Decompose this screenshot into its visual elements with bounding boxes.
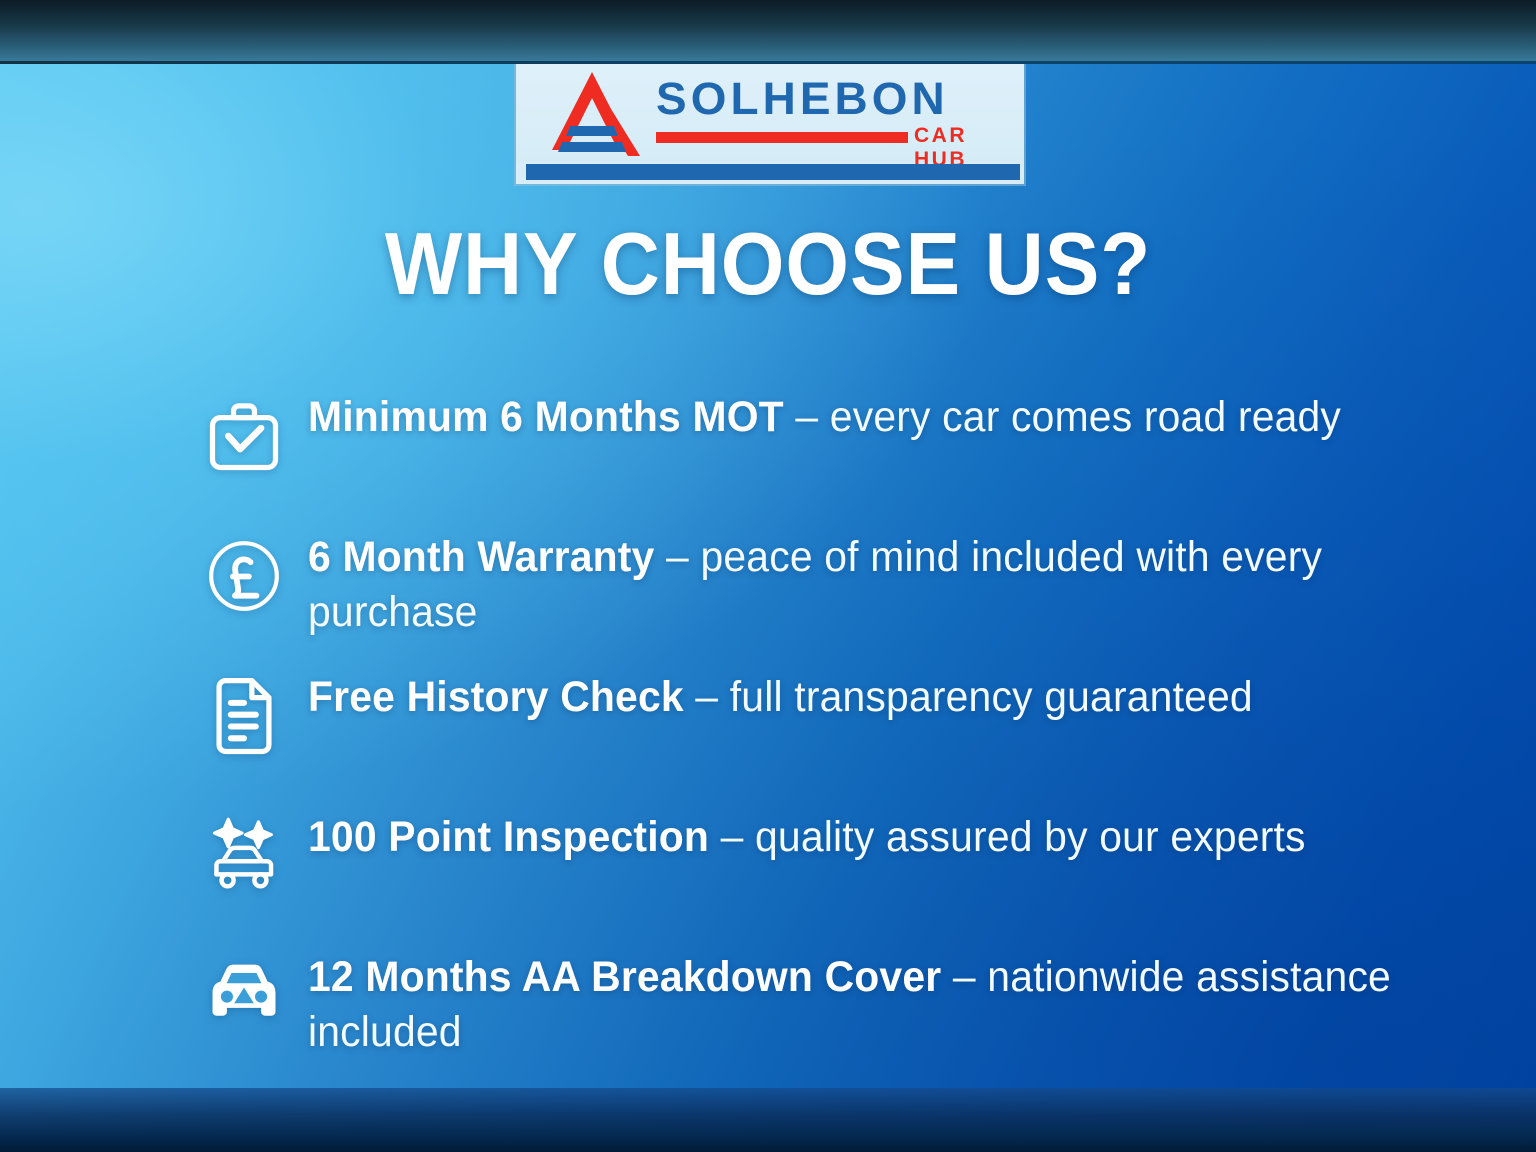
letterbox-bar-top	[0, 0, 1536, 64]
car-front-icon	[180, 934, 308, 1052]
sparkle-car-icon	[180, 794, 308, 912]
feature-title: 6 Month Warranty	[308, 533, 654, 581]
feature-list: Minimum 6 Months MOT – every car comes r…	[180, 374, 1480, 1074]
list-item: Minimum 6 Months MOT – every car comes r…	[180, 374, 1480, 514]
feature-text: 12 Months AA Breakdown Cover – nationwid…	[308, 934, 1421, 1060]
feature-text: 6 Month Warranty – peace of mind include…	[308, 514, 1421, 640]
feature-title: 12 Months AA Breakdown Cover	[308, 953, 941, 1001]
feature-description: – full transparency guaranteed	[684, 673, 1253, 721]
feature-description: – every car comes road ready	[784, 393, 1341, 441]
logo-plate: SOLHEBON CAR HUB	[516, 64, 1024, 162]
document-lines-icon	[180, 654, 308, 772]
logo-blue-footer-bar	[526, 164, 1020, 180]
promo-graphic: SOLHEBON CAR HUB WHY CHOOSE US? Minimum …	[0, 0, 1536, 1152]
list-item: 6 Month Warranty – peace of mind include…	[180, 514, 1480, 654]
logo-wordmark: SOLHEBON CAR HUB	[656, 74, 1008, 158]
brand-logo[interactable]: SOLHEBON CAR HUB	[516, 64, 1024, 184]
pound-coin-icon	[180, 514, 308, 632]
feature-text: Free History Check – full transparency g…	[308, 654, 1421, 725]
list-item: Free History Check – full transparency g…	[180, 654, 1480, 794]
logo-brand-name: SOLHEBON	[656, 76, 949, 121]
briefcase-check-icon	[180, 374, 308, 492]
page-title: WHY CHOOSE US?	[54, 220, 1482, 308]
list-item: 100 Point Inspection – quality assured b…	[180, 794, 1480, 934]
logo-red-rule	[656, 132, 908, 143]
feature-title: Free History Check	[308, 673, 684, 721]
feature-text: 100 Point Inspection – quality assured b…	[308, 794, 1421, 865]
feature-title: 100 Point Inspection	[308, 813, 709, 861]
list-item: 12 Months AA Breakdown Cover – nationwid…	[180, 934, 1480, 1074]
solhebon-chevron-icon	[540, 70, 644, 158]
feature-title: Minimum 6 Months MOT	[308, 393, 784, 441]
feature-text: Minimum 6 Months MOT – every car comes r…	[308, 374, 1421, 445]
letterbox-bar-bottom	[0, 1088, 1536, 1152]
feature-description: – quality assured by our experts	[709, 813, 1306, 861]
